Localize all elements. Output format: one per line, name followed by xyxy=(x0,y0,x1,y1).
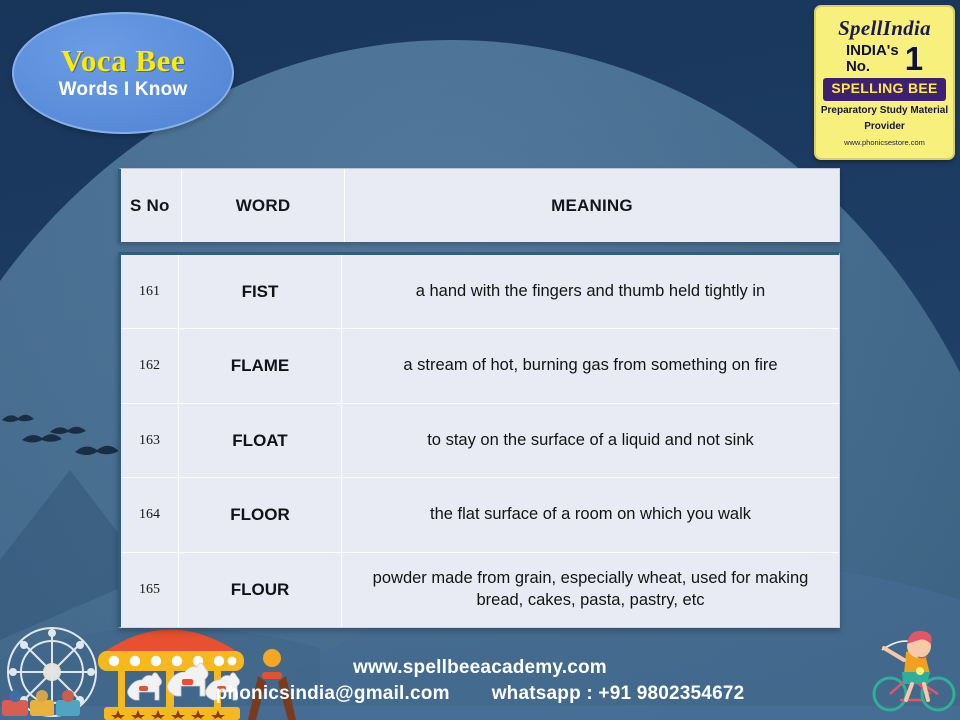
badge-rank: INDIA's No. 1 xyxy=(816,43,953,75)
table-row: 163 FLOAT to stay on the surface of a li… xyxy=(121,404,839,478)
logo-title: Voca Bee xyxy=(61,45,185,78)
badge-url: www.phonicsestore.com xyxy=(844,138,925,147)
header-cell-word: WORD xyxy=(181,169,344,242)
badge-banner-label: SPELLING BEE xyxy=(831,80,937,96)
cell-serial: 161 xyxy=(121,255,178,328)
badge-rank-line1: INDIA's xyxy=(846,43,899,59)
table-row: 162 FLAME a stream of hot, burning gas f… xyxy=(121,329,839,404)
column-header-word: WORD xyxy=(236,196,291,216)
cell-meaning: a hand with the fingers and thumb held t… xyxy=(341,255,839,328)
cell-word: FIST xyxy=(178,255,341,328)
badge-brand: SpellIndia xyxy=(838,17,931,40)
badge-banner: SPELLING BEE xyxy=(823,78,945,101)
badge-tagline-line2: Provider xyxy=(821,121,949,134)
cell-serial: 162 xyxy=(121,329,178,403)
table-row: 165 FLOUR powder made from grain, especi… xyxy=(121,553,839,627)
cell-meaning: to stay on the surface of a liquid and n… xyxy=(341,404,839,477)
table-row: 161 FIST a hand with the fingers and thu… xyxy=(121,255,839,329)
header-cell-serial: S No xyxy=(121,196,181,216)
cell-serial: 164 xyxy=(121,478,178,552)
logo-subtitle: Words I Know xyxy=(59,80,188,101)
badge-rank-text: INDIA's No. xyxy=(846,43,899,75)
cell-meaning: the flat surface of a room on which you … xyxy=(341,478,839,552)
column-header-sno: S No xyxy=(130,196,170,215)
cell-serial: 163 xyxy=(121,404,178,477)
cell-meaning: powder made from grain, especially wheat… xyxy=(341,553,839,627)
vocabulary-table-header: S No WORD MEANING xyxy=(118,168,840,242)
cell-word: FLAME xyxy=(178,329,341,403)
voca-bee-logo: Voca Bee Words I Know xyxy=(12,12,234,134)
header-cell-meaning: MEANING xyxy=(344,169,839,242)
cell-word: FLOUR xyxy=(178,553,341,627)
spellindia-badge: SpellIndia INDIA's No. 1 SPELLING BEE Pr… xyxy=(814,5,955,160)
slide-canvas: Voca Bee Words I Know SpellIndia INDIA's… xyxy=(0,0,960,720)
cell-word: FLOAT xyxy=(178,404,341,477)
table-row: 164 FLOOR the flat surface of a room on … xyxy=(121,478,839,553)
badge-rank-line2: No. xyxy=(846,59,899,75)
badge-tagline-line1: Preparatory Study Material xyxy=(821,105,949,118)
cell-word: FLOOR xyxy=(178,478,341,552)
vocabulary-table-body: 161 FIST a hand with the fingers and thu… xyxy=(118,252,840,628)
cell-meaning: a stream of hot, burning gas from someth… xyxy=(341,329,839,403)
badge-rank-number: 1 xyxy=(905,43,923,74)
cell-serial: 165 xyxy=(121,553,178,627)
column-header-meaning: MEANING xyxy=(551,196,633,216)
